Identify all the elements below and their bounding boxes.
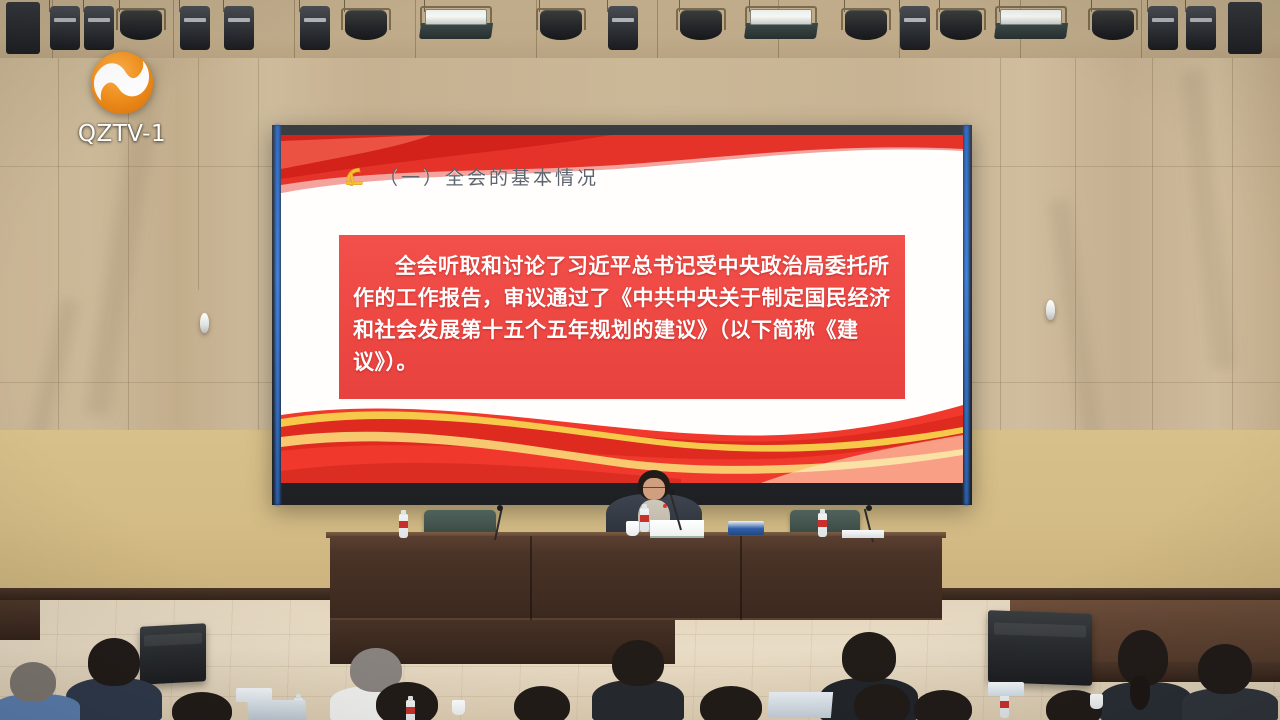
water-bottle <box>406 700 415 720</box>
channel-logo-bug: QZTV-1 <box>74 46 170 147</box>
rear-wood-wall-left <box>0 600 40 640</box>
tea-cup <box>1090 694 1103 709</box>
presentation-slide: （一）全会的基本情况 全会听取和讨论了习近平总书记受中央政治局委托所作的工作报告… <box>281 135 963 483</box>
tea-cup <box>452 700 465 715</box>
head-table <box>330 536 942 620</box>
audience-member <box>0 662 80 720</box>
microphone-head <box>497 505 503 511</box>
screen-edge-glow <box>275 125 280 505</box>
slide-heading: （一）全会的基本情况 <box>343 163 599 190</box>
audience-member <box>906 690 992 720</box>
laptop-screen <box>247 700 307 720</box>
wall-speaker-device <box>1046 300 1055 320</box>
bottom-ribbon-svg <box>281 375 963 483</box>
led-display-screen: （一）全会的基本情况 全会听取和讨论了习近平总书记受中央政治局委托所作的工作报告… <box>272 125 972 505</box>
water-bottle <box>1000 694 1009 718</box>
laptop-screen <box>767 692 833 718</box>
presenter-glasses <box>643 487 665 492</box>
microphone-head <box>669 489 675 495</box>
tissue-box <box>728 521 764 535</box>
slide-body-text: 全会听取和讨论了习近平总书记受中央政治局委托所作的工作报告，审议通过了《中共中央… <box>353 251 891 379</box>
channel-logo-text: QZTV-1 <box>74 121 170 147</box>
tea-cup <box>626 521 639 536</box>
slide-heading-text: （一）全会的基本情况 <box>379 163 599 190</box>
water-bottle <box>640 508 649 532</box>
audience-member <box>506 686 590 720</box>
slide-bottom-ribbon-graphic <box>281 375 963 483</box>
wall-speaker-device <box>200 313 209 333</box>
water-bottle <box>818 513 827 537</box>
tissue-box <box>988 682 1024 696</box>
ceiling-lighting-truss <box>0 0 1280 58</box>
audience-member <box>66 638 162 720</box>
document-stack <box>842 530 884 538</box>
screen-edge-glow <box>964 125 969 505</box>
audience-member <box>1040 690 1120 720</box>
ccp-hammer-sickle-emblem <box>343 166 367 188</box>
broadcast-frame: （一）全会的基本情况 全会听取和讨论了习近平总书记受中央政治局委托所作的工作报告… <box>0 0 1280 720</box>
audience-member <box>1182 644 1278 720</box>
screen-content-area: （一）全会的基本情况 全会听取和讨论了习近平总书记受中央政治局委托所作的工作报告… <box>281 135 963 483</box>
qztv-wave-logo-icon <box>85 46 159 120</box>
microphone-head <box>866 505 872 511</box>
water-bottle <box>399 514 408 538</box>
floor-monitor-right <box>988 610 1092 686</box>
audience-member <box>592 640 684 720</box>
